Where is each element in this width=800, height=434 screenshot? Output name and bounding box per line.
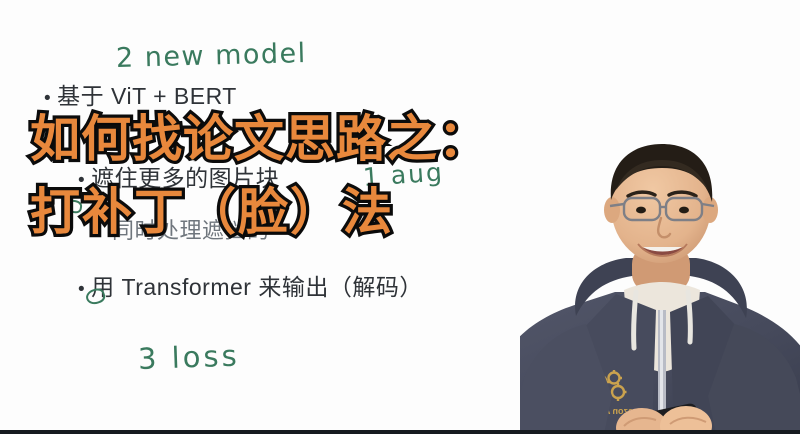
slide-bullet-1: • 基于 ViT + BERT — [44, 84, 237, 109]
bottom-bar — [0, 430, 800, 434]
bullet-marker-icon: • — [78, 280, 85, 299]
left-eye — [636, 207, 646, 214]
handwriting-note-new-model: 2 new model — [116, 38, 307, 74]
presenter-figure-icon: amazon AI — [520, 134, 800, 434]
bullet-marker-icon: • — [78, 171, 85, 190]
green-loop-doodle-icon — [65, 199, 83, 215]
hoodie-drawstring-right — [688, 292, 690, 342]
presenter-cutout: amazon AI — [520, 134, 800, 434]
slide-bullet-3-text: 同时处理遮挡的 — [112, 219, 270, 243]
right-eye — [679, 207, 689, 214]
slide-bullet-2: • 遮住更多的图片块 — [78, 166, 279, 191]
handwriting-note-aug: 1 aug — [362, 157, 445, 192]
slide-bullet-2-text: 遮住更多的图片块 — [91, 166, 279, 191]
slide-bullet-4-text: 用 Transformer 来输出（解码） — [91, 275, 423, 300]
video-frame: • 基于 ViT + BERT • 遮住更多的图片块 同时处理遮挡的 • 用 T… — [0, 0, 800, 434]
slide-bullet-3: 同时处理遮挡的 — [112, 219, 270, 243]
handwriting-note-loss: 3 loss — [137, 338, 240, 376]
right-ear — [702, 197, 718, 223]
hoodie-drawstring-left — [634, 292, 636, 348]
left-ear — [604, 197, 620, 223]
slide-bullet-1-text: 基于 ViT + BERT — [57, 84, 237, 109]
bullet-marker-icon: • — [44, 89, 51, 108]
slide-bullet-4: • 用 Transformer 来输出（解码） — [78, 275, 423, 300]
